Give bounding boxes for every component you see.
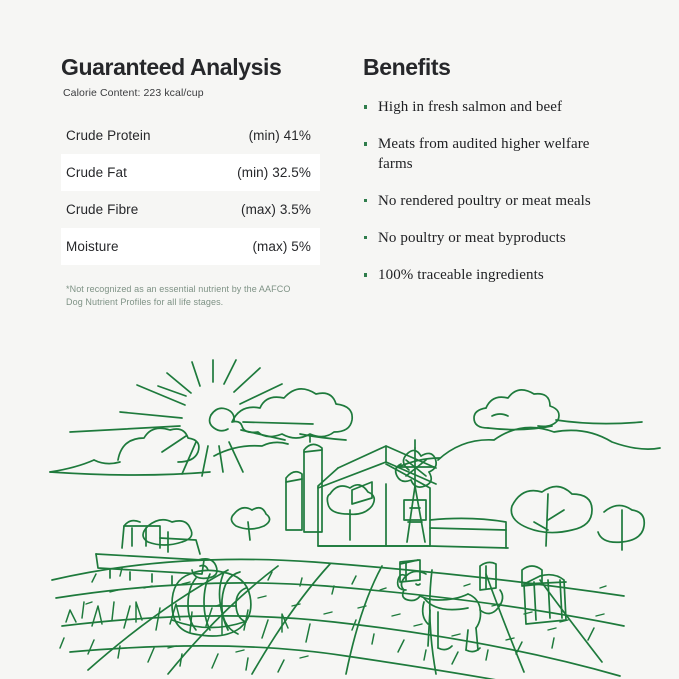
guaranteed-analysis-section: Guaranteed Analysis Calorie Content: 223… — [61, 55, 321, 309]
table-row: Moisture (max) 5% — [61, 228, 320, 265]
guaranteed-analysis-title: Guaranteed Analysis — [61, 55, 321, 80]
square-hay-bales — [400, 560, 566, 624]
nutrient-value: (min) 41% — [249, 128, 311, 143]
trees — [143, 485, 644, 552]
table-row: Crude Protein (min) 41% — [61, 117, 320, 154]
calorie-content-text: Calorie Content: 223 kcal/cup — [63, 87, 321, 99]
nutrient-label: Crude Protein — [66, 128, 151, 143]
nutrient-value: (max) 5% — [252, 239, 311, 254]
nutrient-label: Crude Fibre — [66, 202, 138, 217]
benefit-text: No rendered poultry or meat meals — [378, 193, 591, 209]
bullet-icon — [364, 273, 367, 276]
tractor — [96, 521, 217, 584]
bullet-icon — [364, 142, 367, 145]
benefit-text: Meats from audited higher welfare farms — [378, 136, 590, 171]
benefits-section: Benefits High in fresh salmon and beef M… — [363, 55, 628, 285]
nutrient-label: Moisture — [66, 239, 119, 254]
bullet-icon — [364, 105, 367, 108]
list-item: High in fresh salmon and beef — [363, 98, 628, 117]
benefit-text: High in fresh salmon and beef — [378, 99, 562, 115]
product-info-panel: Guaranteed Analysis Calorie Content: 223… — [0, 0, 679, 679]
nutrition-table: Crude Protein (min) 41% Crude Fat (min) … — [61, 117, 320, 265]
benefits-title: Benefits — [363, 55, 628, 80]
farm-scene-illustration — [0, 330, 679, 679]
nutrient-value: (min) 32.5% — [237, 165, 311, 180]
table-row: Crude Fat (min) 32.5% — [61, 154, 320, 191]
grass-tufts — [60, 568, 594, 672]
bullet-icon — [364, 236, 367, 239]
nutrient-label: Crude Fat — [66, 165, 127, 180]
bullet-icon — [364, 199, 367, 202]
benefit-text: No poultry or meat byproducts — [378, 230, 566, 246]
silo — [286, 436, 322, 532]
list-item: No rendered poultry or meat meals — [363, 192, 628, 211]
benefit-text: 100% traceable ingredients — [378, 267, 544, 283]
benefits-list: High in fresh salmon and beef Meats from… — [363, 98, 628, 285]
nutrient-value: (max) 3.5% — [241, 202, 311, 217]
table-row: Crude Fibre (max) 3.5% — [61, 191, 320, 228]
list-item: Meats from audited higher welfare farms — [363, 135, 628, 173]
list-item: 100% traceable ingredients — [363, 266, 628, 285]
aafco-footnote: *Not recognized as an essential nutrient… — [66, 283, 306, 309]
list-item: No poultry or meat byproducts — [363, 229, 628, 248]
